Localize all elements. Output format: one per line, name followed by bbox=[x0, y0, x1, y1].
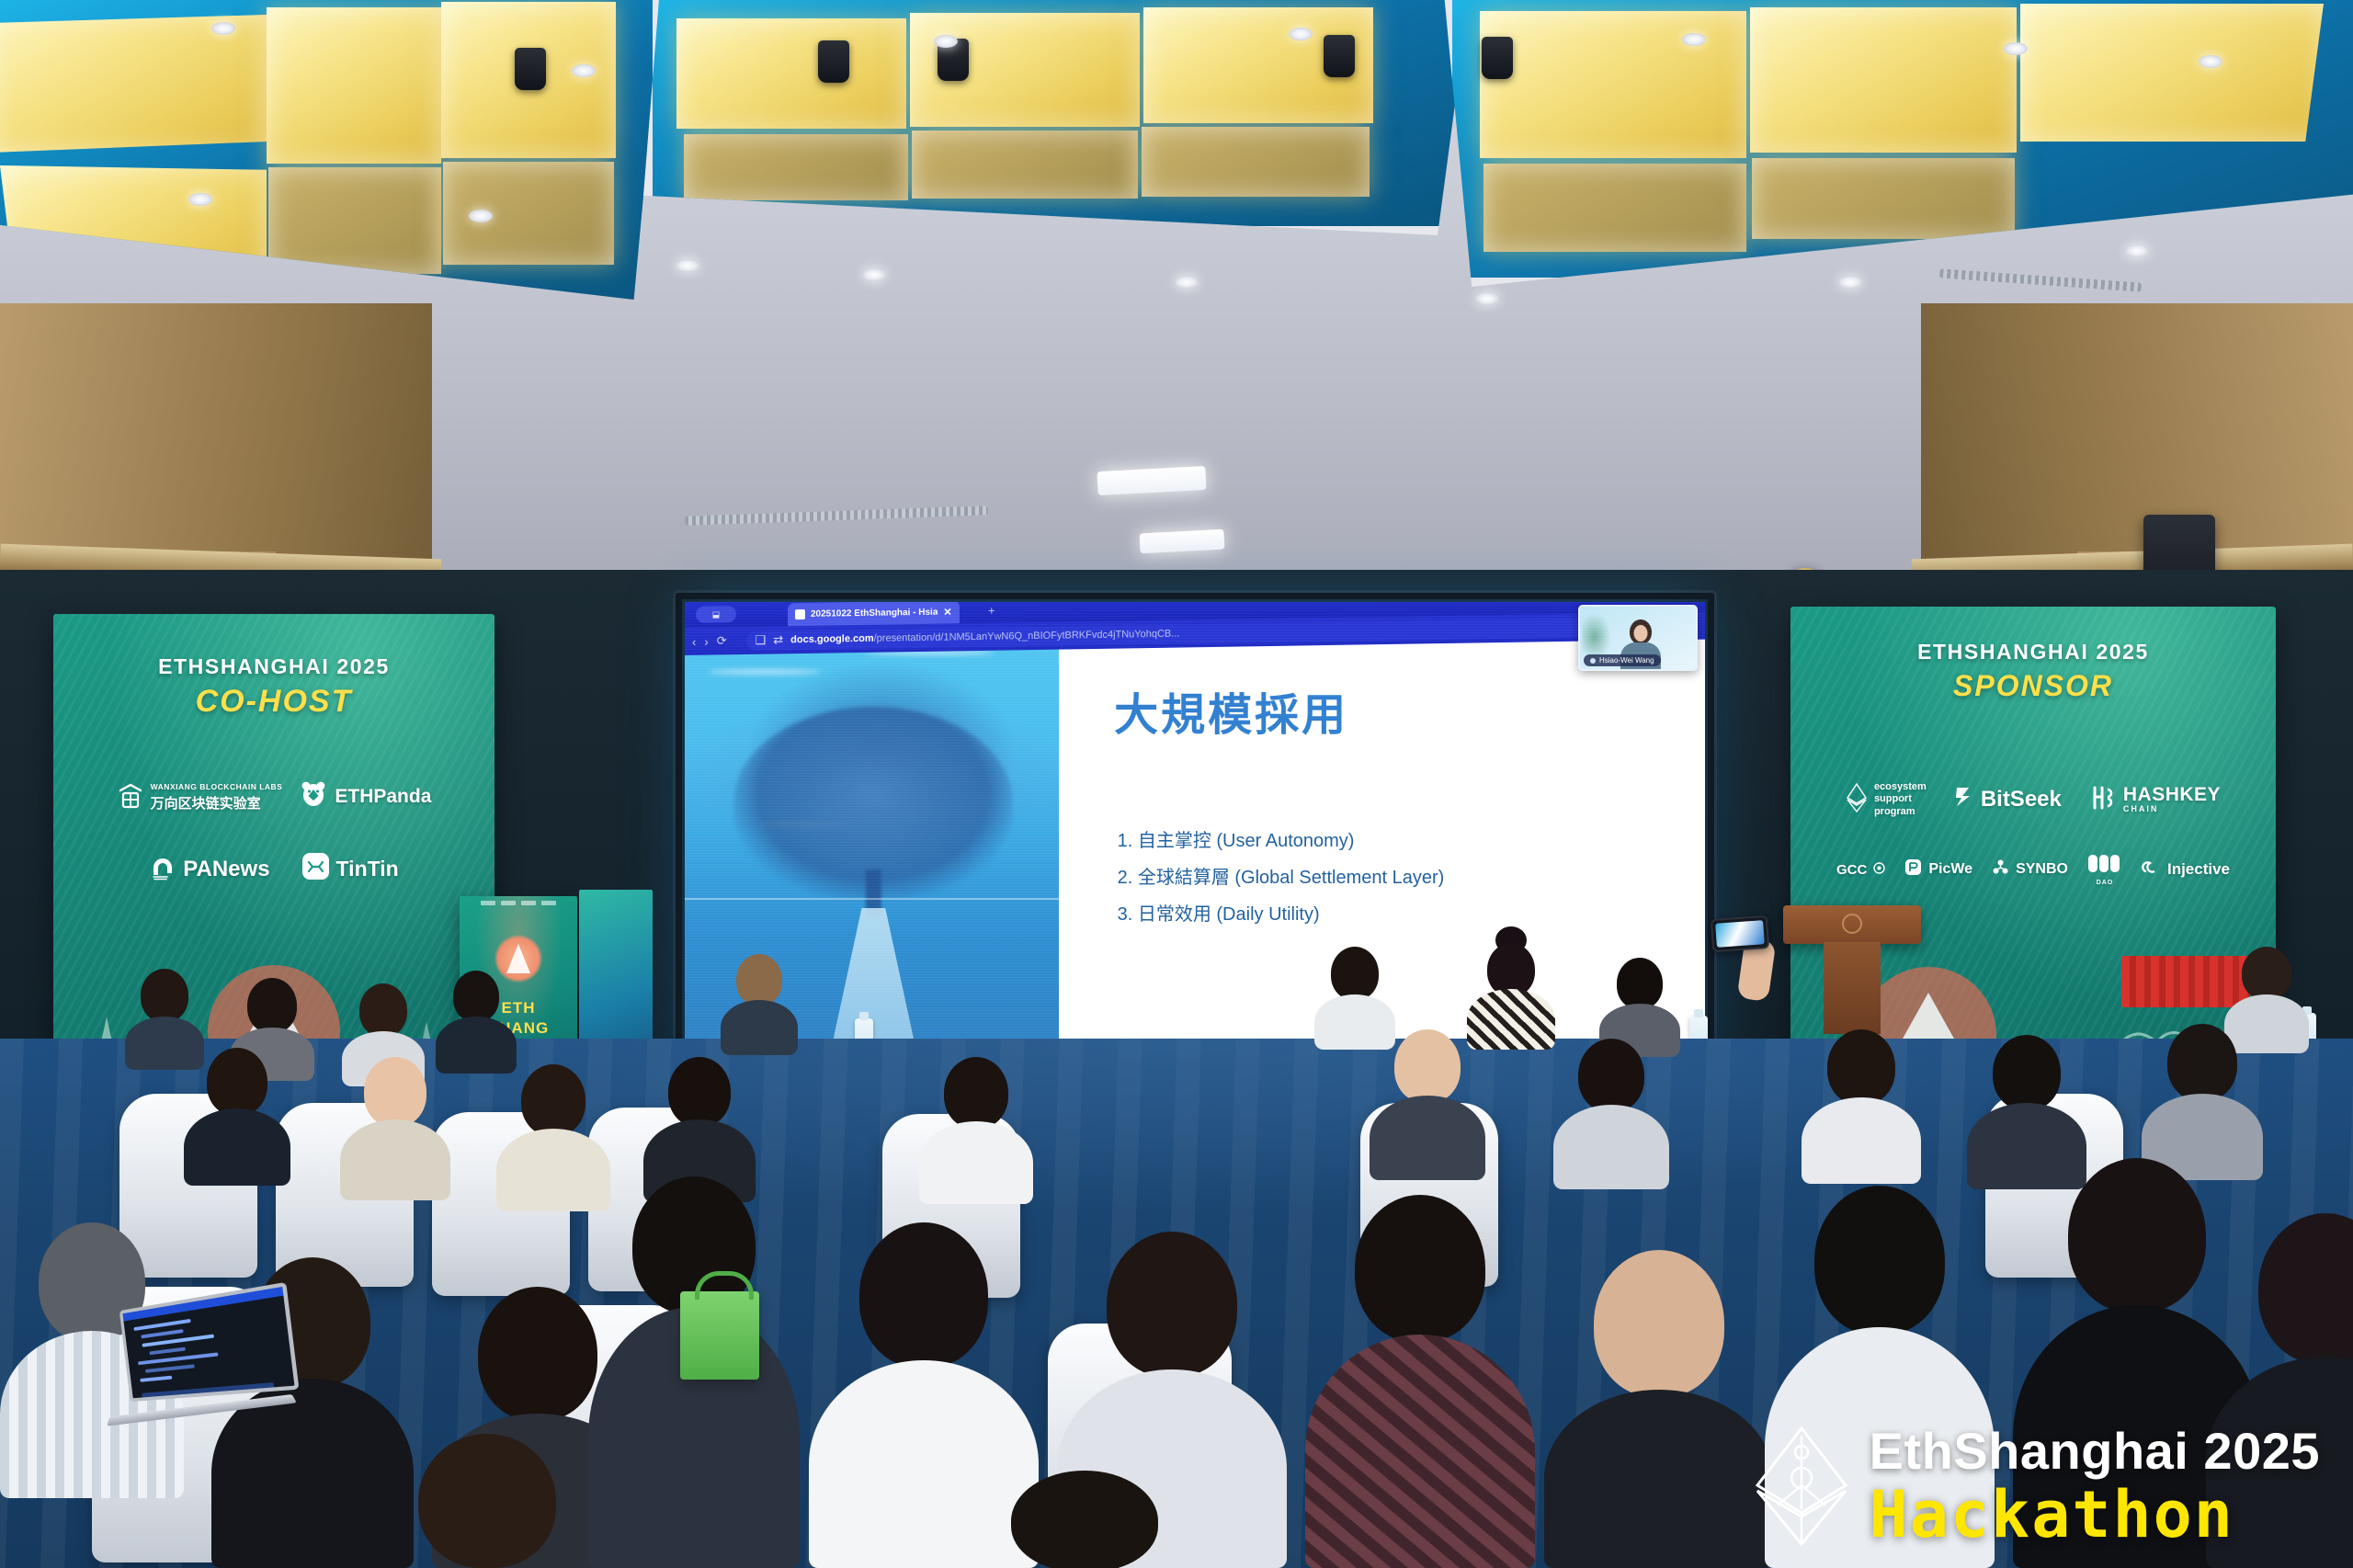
person-head bbox=[1594, 1250, 1724, 1397]
presenter-webcam-overlay: Hsiao-Wei Wang bbox=[1578, 605, 1698, 671]
ceiling-downlight bbox=[1175, 276, 1199, 289]
audience-member bbox=[965, 1471, 1204, 1568]
browser-tab[interactable]: 20251022 EthShanghai - Hsia ✕ bbox=[788, 602, 960, 626]
cohost-banner-title: ETHSHANGHAI 2025 bbox=[53, 654, 494, 679]
person-head bbox=[1814, 1186, 1945, 1335]
ceiling-spotlight bbox=[515, 48, 546, 90]
audience-member bbox=[1553, 1039, 1669, 1189]
event-watermark: EthShanghai 2025 Hackathon bbox=[1750, 1425, 2320, 1548]
ceiling-downlight bbox=[1475, 292, 1499, 305]
ethshanghai-logo-icon bbox=[1750, 1425, 1853, 1548]
person-head bbox=[207, 1048, 267, 1116]
bitseek-label: BitSeek bbox=[1981, 787, 2062, 812]
sponsor-logo-row-2: GCC PicWe bbox=[1790, 853, 2276, 886]
person-head bbox=[944, 1057, 1008, 1129]
person-head bbox=[1993, 1035, 2061, 1110]
browser-profile-button[interactable]: ⬓ bbox=[696, 606, 736, 623]
tintin-label: TinTin bbox=[336, 857, 399, 881]
watermark-text: EthShanghai 2025 Hackathon bbox=[1870, 1426, 2320, 1547]
gcc-label: GCC bbox=[1836, 862, 1867, 878]
hashkey-icon bbox=[2089, 785, 2117, 815]
picwe-icon bbox=[1904, 858, 1922, 881]
logo-bitseek: BitSeek bbox=[1954, 785, 2062, 815]
ceiling-downlight bbox=[2199, 55, 2222, 68]
slide-bullet-list: 1. 自主掌控 (User Autonomy) 2. 全球結算層 (Global… bbox=[1118, 832, 1445, 942]
person-shoulders bbox=[721, 1000, 798, 1055]
audience-member bbox=[919, 1057, 1033, 1204]
back-icon[interactable]: ‹ bbox=[692, 634, 696, 648]
close-icon[interactable]: ✕ bbox=[943, 606, 951, 618]
person-shoulders bbox=[1553, 1105, 1669, 1189]
ceiling-downlight bbox=[1682, 33, 1706, 46]
podium-column bbox=[1824, 942, 1881, 1034]
person-head bbox=[2258, 1213, 2353, 1364]
tune-icon[interactable]: ⇄ bbox=[773, 632, 783, 647]
person-shoulders bbox=[1305, 1335, 1535, 1568]
horizon-line bbox=[685, 898, 1063, 900]
podium-top bbox=[1783, 905, 1921, 944]
ethereum-diamond-icon bbox=[1846, 782, 1868, 818]
logo-picwe: PicWe bbox=[1904, 858, 1972, 881]
logo-liubing-dao: DAO bbox=[2087, 853, 2122, 886]
sponsor-logo-row-1: ecosystem support program BitSeek bbox=[1790, 781, 2276, 818]
person-head bbox=[364, 1057, 426, 1127]
synbo-label: SYNBO bbox=[2016, 861, 2068, 878]
person-head bbox=[521, 1064, 585, 1136]
person-head bbox=[2068, 1158, 2206, 1312]
slide-bullet-2: 2. 全球結算層 (Global Settlement Layer) bbox=[1118, 869, 1445, 887]
person-shoulders bbox=[340, 1119, 450, 1200]
hashkey-sublabel: CHAIN bbox=[2123, 805, 2221, 813]
person-head bbox=[1617, 958, 1663, 1009]
podium bbox=[1783, 905, 1921, 1034]
presenter-face bbox=[1633, 625, 1647, 642]
watermark-line-1: EthShanghai 2025 bbox=[1870, 1426, 2320, 1477]
ceiling-downlight bbox=[188, 193, 212, 206]
ceiling-downlight bbox=[2004, 42, 2028, 55]
person-head bbox=[418, 1434, 556, 1568]
new-tab-button[interactable]: + bbox=[988, 604, 995, 618]
sponsor-banner-title: ETHSHANGHAI 2025 bbox=[1790, 640, 2276, 665]
picwe-label: PicWe bbox=[1928, 861, 1972, 878]
logo-synbo: SYNBO bbox=[1992, 858, 2068, 881]
ceiling-downlight bbox=[1289, 28, 1313, 40]
person-head bbox=[1394, 1029, 1461, 1103]
url-path: /presentation/d/1NM5LanYwN6Q_nBIOFytBRKF… bbox=[874, 629, 1180, 644]
person-head bbox=[1827, 1029, 1895, 1105]
logo-hashkey-chain: HASHKEY CHAIN bbox=[2089, 785, 2221, 815]
audience-member bbox=[1544, 1250, 1774, 1568]
person-shoulders bbox=[1544, 1390, 1774, 1568]
sponsor-banner-subtitle: SPONSOR bbox=[1790, 669, 2276, 703]
person-head bbox=[453, 971, 499, 1022]
person-head bbox=[478, 1287, 597, 1421]
tab-favicon bbox=[795, 609, 805, 619]
audience-member bbox=[340, 1057, 450, 1200]
forward-icon[interactable]: › bbox=[704, 634, 708, 648]
ceiling-spotlight bbox=[1482, 37, 1513, 79]
person-head bbox=[2242, 947, 2291, 1000]
cohost-logo-row-1: WANXIANG BLOCKCHAIN LABS 万向区块链实验室 ETHPan… bbox=[53, 779, 494, 814]
cohost-banner-subtitle: CO-HOST bbox=[53, 684, 494, 720]
person-head bbox=[1331, 947, 1379, 1000]
person-head bbox=[1011, 1471, 1158, 1568]
ceiling-downlight bbox=[676, 259, 699, 272]
phone-screen-preview bbox=[1715, 920, 1765, 948]
esp-line-1: ecosystem bbox=[1874, 781, 1927, 793]
person-head bbox=[247, 978, 297, 1033]
audience-member bbox=[721, 954, 798, 1055]
attendee-laptop bbox=[95, 1287, 301, 1429]
panda-icon bbox=[299, 779, 328, 814]
logo-tintin: TinTin bbox=[301, 852, 399, 886]
panews-icon bbox=[149, 851, 176, 887]
tintin-icon bbox=[301, 852, 330, 886]
gcc-icon bbox=[1873, 862, 1885, 878]
person-shoulders bbox=[1370, 1096, 1485, 1180]
wanxiang-label-en: WANXIANG BLOCKCHAIN LABS bbox=[151, 782, 283, 791]
rollup-partner-strip bbox=[460, 901, 577, 905]
logo-wanxiang-blockchain-labs: WANXIANG BLOCKCHAIN LABS 万向区块链实验室 bbox=[117, 782, 283, 812]
tab-title: 20251022 EthShanghai - Hsia bbox=[811, 608, 938, 619]
logo-ecosystem-support-program: ecosystem support program bbox=[1846, 781, 1927, 818]
audience-member bbox=[184, 1048, 290, 1186]
podium-seal bbox=[1842, 914, 1862, 934]
person-head bbox=[1578, 1039, 1644, 1112]
person-head bbox=[2167, 1024, 2237, 1101]
logo-injective: Injective bbox=[2142, 858, 2230, 881]
logo-ethpanda: ETHPanda bbox=[299, 779, 431, 814]
reload-icon[interactable]: ⟳ bbox=[717, 633, 727, 648]
presenter-name: Hsiao-Wei Wang bbox=[1599, 656, 1654, 665]
injective-icon bbox=[2142, 858, 2161, 881]
url-host: docs.google.com bbox=[790, 633, 873, 645]
rollup-ethereum-icon bbox=[506, 944, 530, 973]
liubing-dao-icon bbox=[2087, 853, 2122, 878]
logo-panews: PANews bbox=[149, 851, 269, 887]
ethpanda-label: ETHPanda bbox=[335, 786, 431, 808]
slide-title: 大規模採用 bbox=[1114, 678, 1348, 743]
slide-bullet-3: 3. 日常效用 (Daily Utility) bbox=[1118, 905, 1445, 924]
person-head bbox=[859, 1222, 988, 1368]
ceiling-downlight bbox=[469, 210, 493, 222]
slide-bullet-1: 1. 自主掌控 (User Autonomy) bbox=[1118, 832, 1445, 850]
audience-member bbox=[1305, 1195, 1535, 1568]
ceiling-downlight bbox=[934, 35, 958, 48]
liubing-dao-label: DAO bbox=[2097, 880, 2114, 886]
wanxiang-icon bbox=[117, 782, 144, 812]
hashkey-label: HASHKEY bbox=[2123, 785, 2221, 805]
ceiling-downlight bbox=[1838, 276, 1862, 289]
profile-icon: ⬓ bbox=[712, 609, 721, 619]
person-head bbox=[736, 954, 782, 1006]
audience-member bbox=[1802, 1029, 1921, 1184]
person-head bbox=[1107, 1232, 1237, 1377]
person-head bbox=[668, 1057, 731, 1127]
audience-member bbox=[1370, 1029, 1485, 1180]
person-head bbox=[1355, 1195, 1485, 1342]
bitseek-icon bbox=[1954, 785, 1974, 815]
audience-member bbox=[2142, 1024, 2263, 1180]
ceiling-spotlight bbox=[818, 40, 849, 83]
conference-photo: ETHSHANGHAI 2025 CO-HOST WANXIANG BLOCKC… bbox=[0, 0, 2353, 1568]
url-text: docs.google.com/presentation/d/1NM5LanYw… bbox=[790, 629, 1179, 646]
esp-line-3: program bbox=[1874, 806, 1927, 818]
ceiling-downlight bbox=[862, 268, 886, 281]
bookmark-icon[interactable]: ❑ bbox=[756, 633, 767, 648]
panews-label: PANews bbox=[183, 857, 269, 882]
person-head bbox=[141, 969, 188, 1022]
esp-line-2: support bbox=[1874, 793, 1927, 805]
injective-label: Injective bbox=[2167, 860, 2230, 879]
person-shoulders bbox=[184, 1108, 290, 1186]
audience-member bbox=[368, 1434, 607, 1568]
ceiling-spotlight bbox=[1324, 35, 1355, 77]
ceiling-downlight bbox=[211, 22, 235, 35]
ceiling-downlight bbox=[2125, 244, 2149, 257]
person-shoulders bbox=[919, 1121, 1033, 1204]
person-shoulders bbox=[1802, 1097, 1921, 1184]
smartphone-camera bbox=[1711, 915, 1769, 952]
ceiling-downlight bbox=[572, 64, 596, 77]
presenter-name-badge: Hsiao-Wei Wang bbox=[1584, 654, 1661, 666]
watermark-line-2: Hackathon bbox=[1870, 1483, 2320, 1547]
cohost-logo-row-2: PANews TinTin bbox=[53, 851, 494, 887]
tote-bag bbox=[680, 1291, 759, 1380]
person-head bbox=[359, 983, 407, 1037]
synbo-icon bbox=[1992, 858, 2009, 881]
logo-gcc: GCC bbox=[1836, 862, 1885, 878]
mic-icon bbox=[1590, 658, 1596, 664]
wanxiang-label-cn: 万向区块链实验室 bbox=[151, 793, 283, 812]
